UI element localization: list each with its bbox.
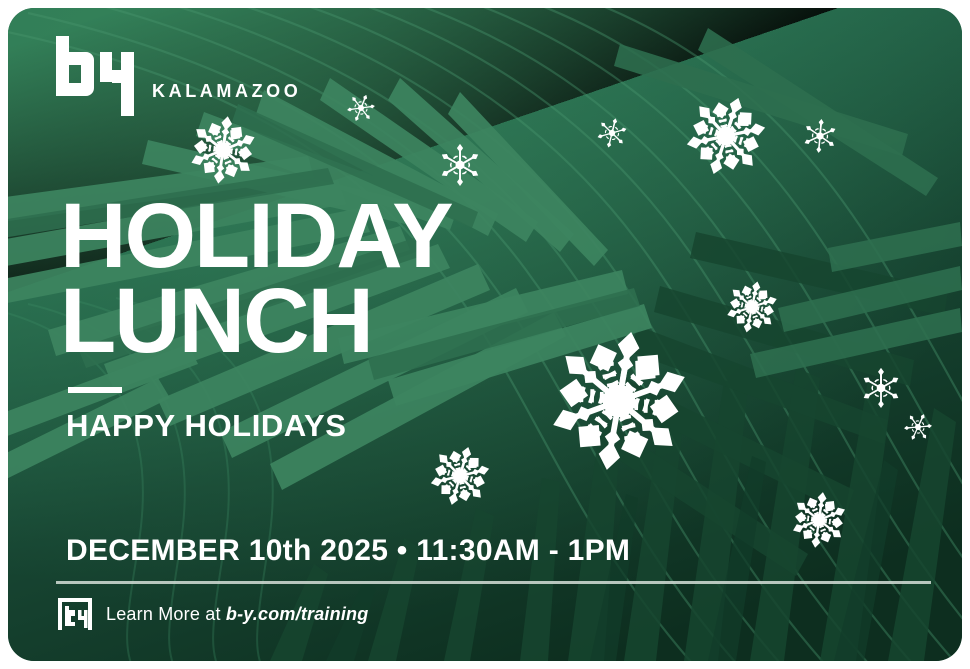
subtitle-text: HAPPY HOLIDAYS	[66, 408, 347, 444]
footer-cta-lead: Learn More at	[106, 604, 226, 624]
footer-bar: Learn More at b-y.com/training	[58, 598, 368, 630]
holiday-event-card: KALAMAZOO HOLIDAY LUNCH HAPPY HOLIDAYS D…	[8, 8, 962, 661]
page-title: HOLIDAY LUNCH	[60, 194, 452, 363]
brand-city-label: KALAMAZOO	[152, 82, 301, 116]
footer-divider	[56, 581, 931, 584]
by-monogram-mark-icon	[58, 598, 92, 630]
footer-cta-text[interactable]: Learn More at b-y.com/training	[106, 604, 368, 625]
footer-url-link[interactable]: b-y.com/training	[226, 604, 369, 624]
event-datetime: DECEMBER 10th 2025 • 11:30AM - 1PM	[66, 534, 630, 568]
by-monogram-logo-icon	[56, 36, 134, 116]
brand-header: KALAMAZOO	[56, 36, 301, 116]
title-divider	[68, 387, 122, 393]
